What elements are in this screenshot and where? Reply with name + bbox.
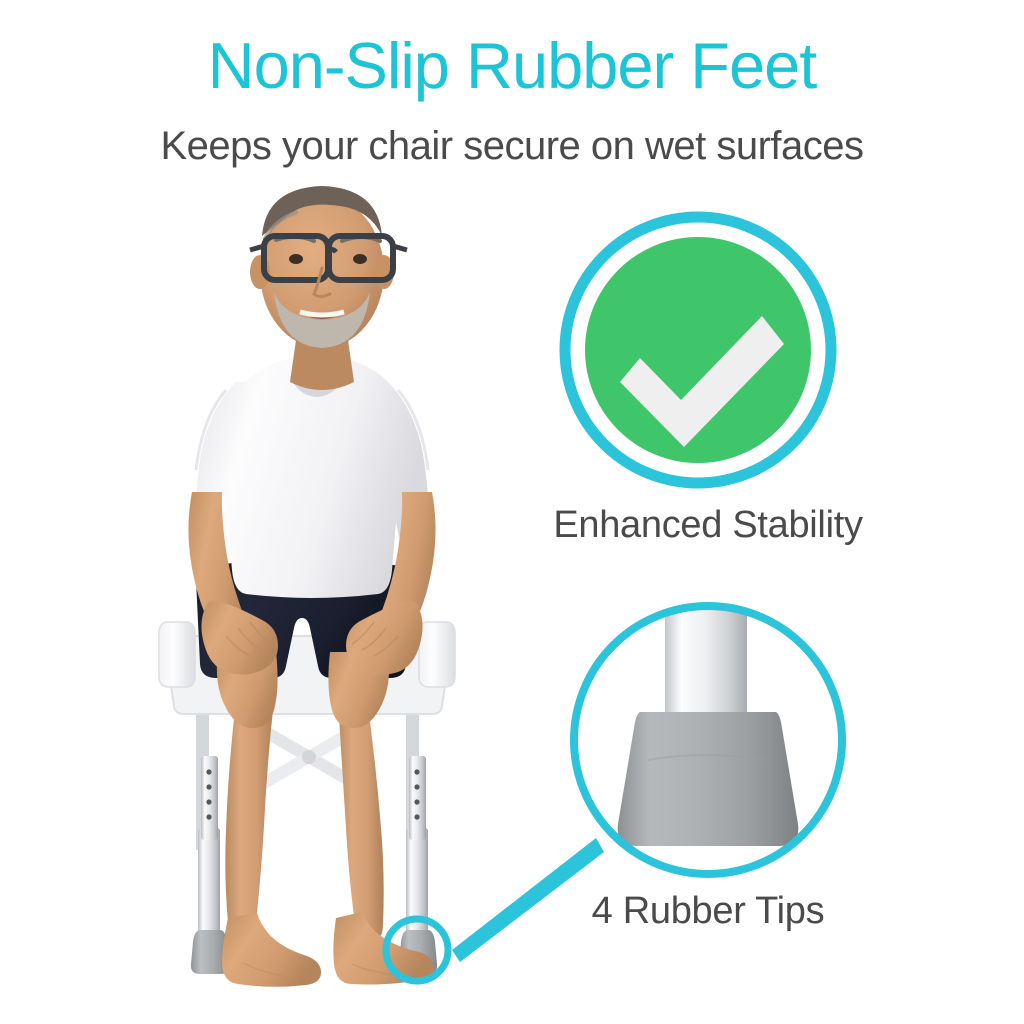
seated-man-photo [159, 186, 455, 987]
feature-label-rubber-tips: 4 Rubber Tips [508, 888, 908, 934]
subject-head [250, 186, 407, 348]
magnifier-circle-icon [574, 596, 842, 874]
white-armrest-right [419, 622, 455, 687]
product-feature-graphic: Non-Slip Rubber Feet Keeps your chair se… [0, 0, 1024, 1024]
feature-label-enhanced-stability: Enhanced Stability [458, 502, 958, 548]
white-armrest-left [159, 622, 195, 687]
check-circle-icon [565, 217, 831, 483]
subject-tshirt [196, 356, 429, 598]
